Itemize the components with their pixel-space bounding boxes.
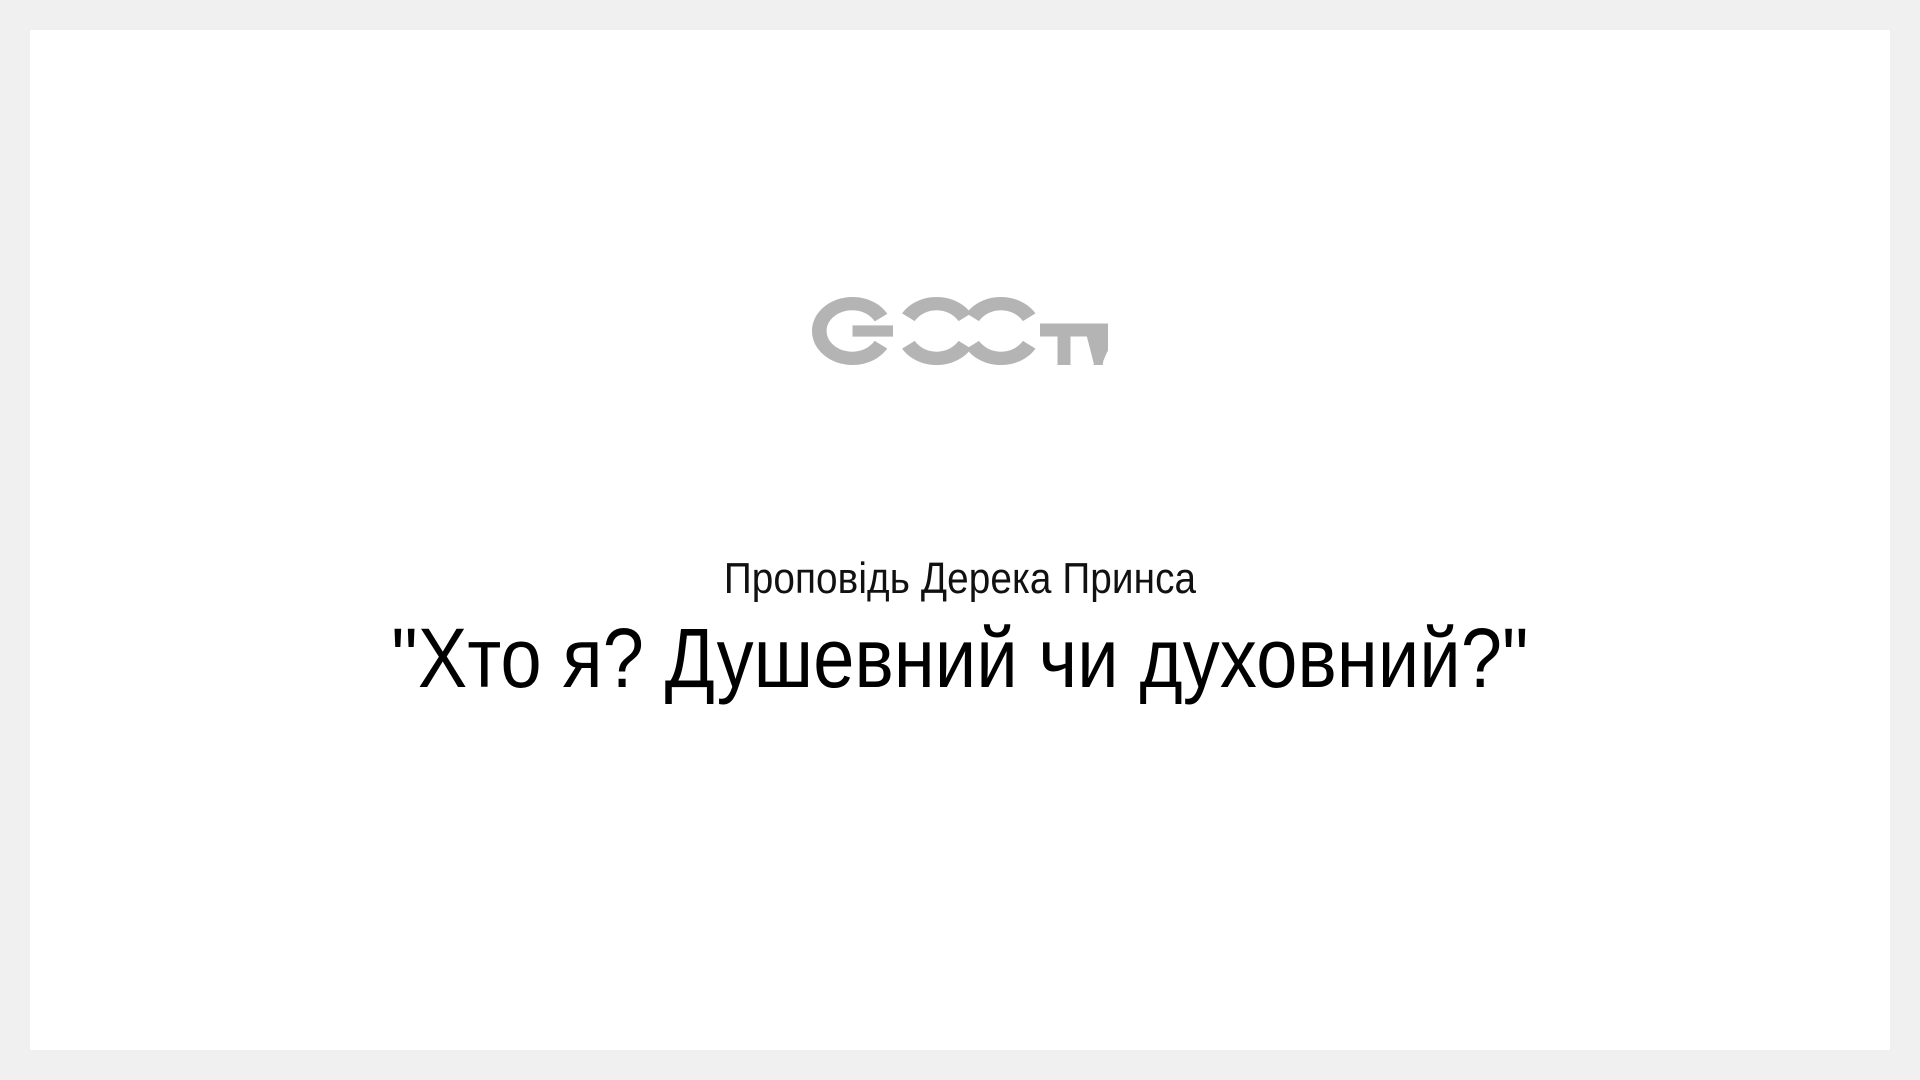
sermon-title: "Хто я? Душевний чи духовний?" <box>142 608 1779 708</box>
slide-stage: Проповідь Дерека Принса "Хто я? Душевний… <box>0 0 1920 1080</box>
gcctv-logo-icon <box>812 297 1108 393</box>
sermon-speaker-subtitle: Проповідь Дерека Принса <box>142 550 1779 608</box>
logo-container <box>30 297 1890 393</box>
text-block: Проповідь Дерека Принса "Хто я? Душевний… <box>30 550 1890 708</box>
content-card: Проповідь Дерека Принса "Хто я? Душевний… <box>30 30 1890 1050</box>
